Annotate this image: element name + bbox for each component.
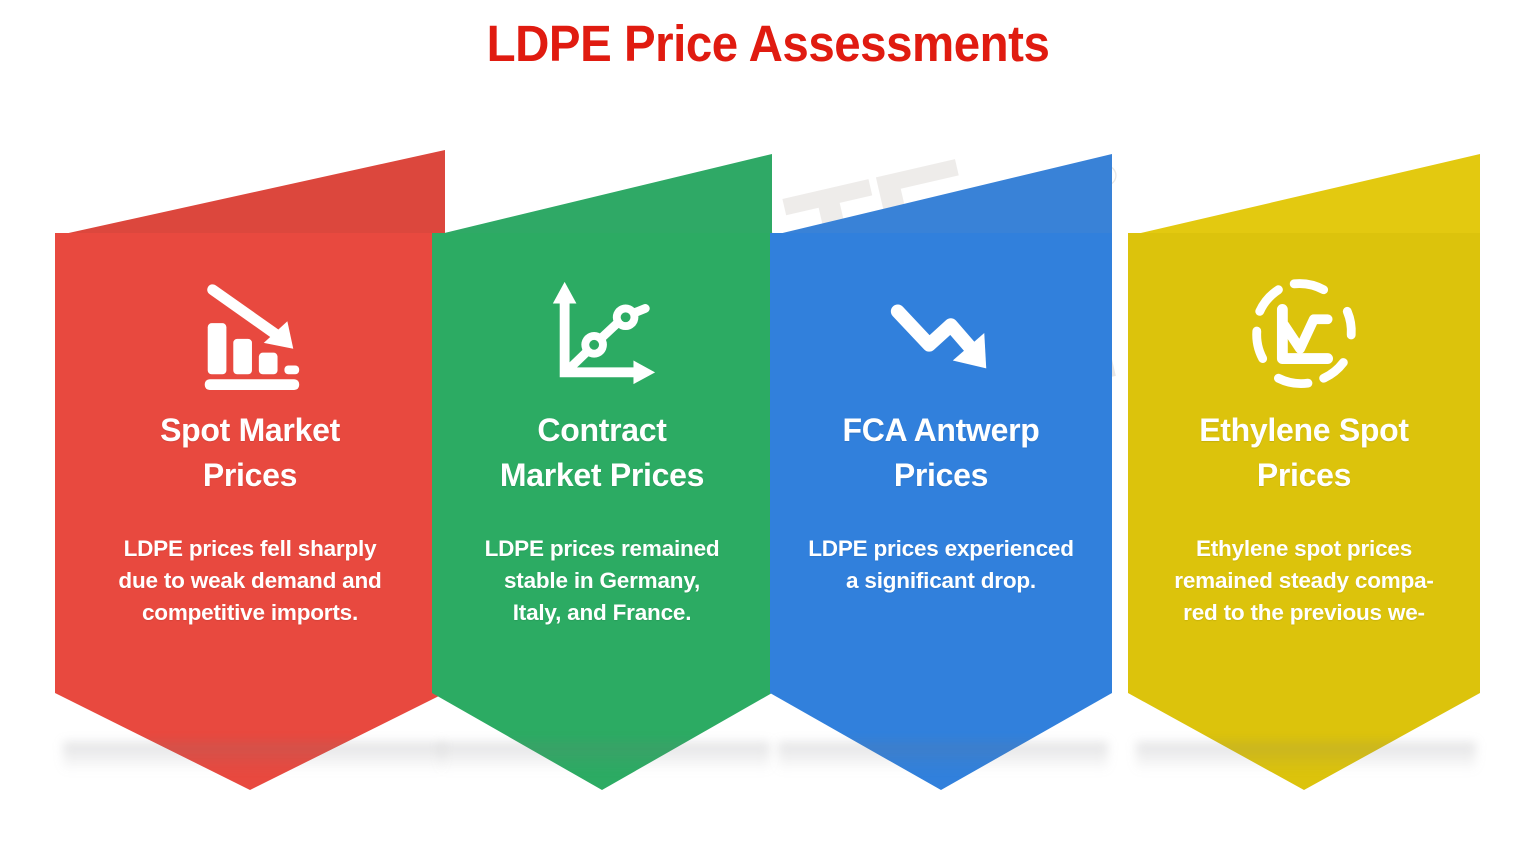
panel-top-bevel (432, 154, 772, 236)
declining-bar-chart-arrow-icon (55, 274, 445, 392)
panel-heading: FCA Antwerp Prices (770, 408, 1112, 499)
panel-heading: Contract Market Prices (432, 408, 772, 499)
panel-top-bevel (770, 154, 1112, 236)
panel-spot-market-prices[interactable]: Spot Market Prices LDPE prices fell shar… (55, 0, 445, 790)
panel-group: Spot Market Prices LDPE prices fell shar… (0, 0, 1536, 856)
infographic-canvas: LDPE Price Assessments ERUPDATE ® INTELL… (0, 0, 1536, 856)
panel-contract-market-prices[interactable]: Contract Market Prices LDPE prices remai… (432, 0, 772, 790)
axes-rising-line-nodes-icon (432, 274, 772, 392)
zigzag-down-arrow-icon (770, 274, 1112, 392)
dashed-circle-line-chart-icon (1128, 274, 1480, 392)
panel-description: LDPE prices experienced a significant dr… (756, 533, 1126, 597)
panel-heading: Spot Market Prices (55, 408, 445, 499)
panel-top-bevel (1128, 154, 1480, 236)
panel-description: LDPE prices remained stable in Germany, … (432, 533, 772, 629)
panel-fca-antwerp-prices[interactable]: FCA Antwerp Prices LDPE prices experienc… (770, 0, 1112, 790)
panel-description: Ethylene spot prices remained steady com… (1114, 533, 1494, 629)
panel-description: LDPE prices fell sharply due to weak dem… (55, 533, 445, 629)
panel-top-bevel (55, 150, 445, 236)
panel-ethylene-spot-prices[interactable]: Ethylene Spot Prices Ethylene spot price… (1128, 0, 1480, 790)
panel-heading: Ethylene Spot Prices (1128, 408, 1480, 499)
